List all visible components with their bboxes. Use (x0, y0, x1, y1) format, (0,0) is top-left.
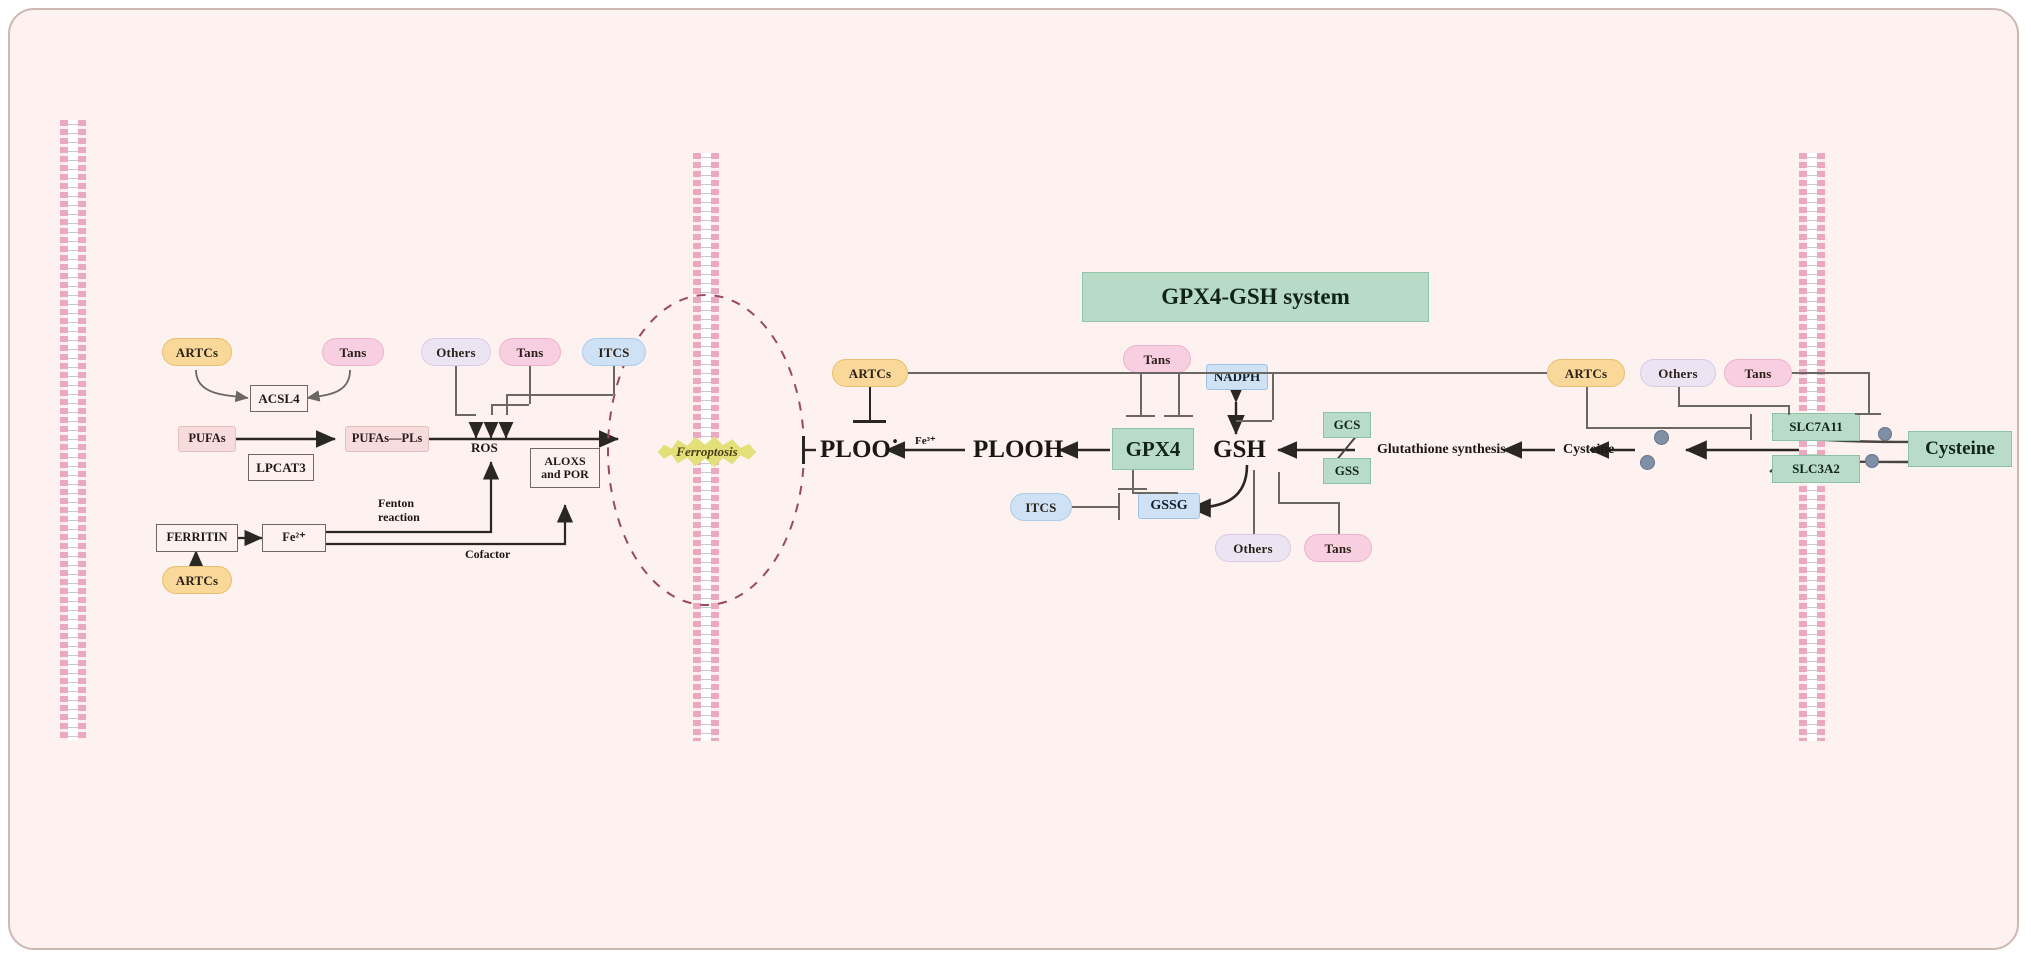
node-pufas-pls[interactable]: PUFAs—PLs (345, 426, 429, 452)
node-plooh[interactable]: PLOOH (973, 436, 1063, 464)
label-ros: ROS (471, 440, 498, 456)
inhibitor-artcs-slc-stem (1586, 387, 1588, 427)
inhibitor-tans-slc-h (1792, 372, 1868, 374)
node-itcs-ros[interactable]: ITCS (582, 338, 646, 366)
banner-gpx4-gsh-system: GPX4-GSH system (1082, 272, 1429, 322)
node-slc7a11[interactable]: SLC7A11 (1772, 413, 1860, 441)
inhibitor-artcs-slc-h (1586, 427, 1752, 429)
node-tans-gpx4[interactable]: Tans (1123, 345, 1191, 373)
label-fe3: Fe³⁺ (915, 434, 936, 447)
cystine-dot-1 (1654, 430, 1669, 445)
inhibitor-tans-gsh-up (1278, 472, 1280, 502)
inhibitor-tans-gpx4-bar-b (1164, 415, 1193, 417)
node-itcs-gssg[interactable]: ITCS (1010, 493, 1072, 521)
node-tans-gsh[interactable]: Tans (1304, 534, 1372, 562)
inhibitor-tans-gsh-stem (1338, 502, 1340, 534)
node-gcs[interactable]: GCS (1323, 412, 1371, 438)
inhibitor-itcs-gssg-line (1072, 506, 1120, 508)
node-gssg[interactable]: GSSG (1138, 493, 1200, 519)
node-gpx4[interactable]: GPX4 (1112, 428, 1194, 470)
label-cofactor: Cofactor (465, 547, 510, 562)
inhibitor-tans-gsh-h (1278, 502, 1338, 504)
inhibitor-others-gsh-stem (1253, 470, 1255, 534)
node-cysteine-in[interactable]: Cysteine (1563, 442, 1614, 458)
label-fenton-reaction: Fenton reaction (378, 497, 420, 525)
node-artcs-slc[interactable]: ARTCs (1547, 359, 1625, 387)
node-artcs-acsl4[interactable]: ARTCs (162, 338, 232, 366)
node-fe2[interactable]: Fe²⁺ (262, 524, 326, 552)
inhibitor-gsh-top-stem (1272, 372, 1274, 420)
inhibitor-artcs-slc-bar (1750, 414, 1752, 440)
inhibitor-artcs-ploo-bar (853, 420, 886, 423)
cystine-dot-2 (1640, 455, 1655, 470)
stem-others-ros (455, 366, 457, 414)
node-artcs-ploo[interactable]: ARTCs (832, 359, 908, 387)
membrane-left (60, 120, 86, 570)
node-gsh[interactable]: GSH (1213, 436, 1266, 464)
diagram-canvas: ARTCs Tans Others Tans ITCS ARTCs ACSL4 … (0, 0, 2031, 960)
node-glutathione-synthesis[interactable]: Glutathione synthesis (1377, 442, 1506, 458)
node-others-ros[interactable]: Others (421, 338, 491, 366)
inhibitor-tans-slc-bar (1855, 413, 1881, 415)
link-gpx4-loop-bar (1118, 488, 1147, 490)
stem-tans-ros (529, 366, 531, 404)
inhibitor-itcs-gssg-bar (1118, 493, 1120, 520)
stem-others-ros-h (455, 414, 476, 416)
inhibitor-artcs-ploo-stem (869, 387, 871, 421)
node-aloxs-por[interactable]: ALOXS and POR (530, 448, 600, 488)
node-tans-ros[interactable]: Tans (499, 338, 561, 366)
cystine-dot-3 (1878, 427, 1892, 441)
node-artcs-ferritin[interactable]: ARTCs (162, 566, 232, 594)
node-acsl4[interactable]: ACSL4 (250, 385, 308, 412)
node-aloxs-por-label: ALOXS and POR (541, 455, 589, 480)
stem-itcs-ros (613, 366, 615, 394)
link-gpx4-loop-h (1132, 492, 1178, 494)
inhibitor-others-slc-h (1678, 405, 1788, 407)
node-nadph[interactable]: NADPH (1206, 364, 1268, 390)
node-tans-acsl4[interactable]: Tans (322, 338, 384, 366)
connector-layer (10, 10, 2031, 960)
node-tans-slc[interactable]: Tans (1724, 359, 1792, 387)
node-cysteine-out[interactable]: Cysteine (1908, 431, 2012, 467)
inhibitor-tans-gpx4-stem-b (1178, 373, 1180, 415)
inhibitor-ploo-left (802, 436, 805, 464)
node-others-gsh[interactable]: Others (1215, 534, 1291, 562)
inhibitor-others-slc-down (1788, 405, 1790, 415)
inhibitor-others-slc-stem (1678, 387, 1680, 405)
membrane-right (1799, 153, 1825, 741)
inhibitor-gsh-top-bar (1236, 420, 1265, 422)
node-lpcat3[interactable]: LPCAT3 (248, 454, 314, 481)
inhibitor-tans-gpx4-stem-a (1140, 373, 1142, 415)
cystine-dot-4 (1865, 454, 1879, 468)
inhibitor-tans-slc-v (1868, 372, 1870, 414)
link-artcs-ploo-to-slc (908, 372, 1547, 374)
inhibitor-tans-gpx4-bar-a (1126, 415, 1155, 417)
node-ferritin[interactable]: FERRITIN (156, 524, 238, 552)
node-gss[interactable]: GSS (1323, 458, 1371, 484)
stem-itcs-ros-d (506, 394, 508, 415)
node-slc3a2[interactable]: SLC3A2 (1772, 455, 1860, 483)
stem-itcs-ros-h (506, 394, 613, 396)
membrane-left-2 (60, 570, 86, 740)
node-ploo[interactable]: PLOO˙ (820, 436, 899, 464)
stem-tans-ros-h (491, 404, 529, 406)
stem-tans-ros-d (491, 404, 493, 415)
node-pufas[interactable]: PUFAs (178, 426, 236, 452)
node-ferroptosis-label: Ferroptosis (676, 444, 737, 460)
node-others-slc[interactable]: Others (1640, 359, 1716, 387)
diagram-panel: ARTCs Tans Others Tans ITCS ARTCs ACSL4 … (8, 8, 2019, 950)
